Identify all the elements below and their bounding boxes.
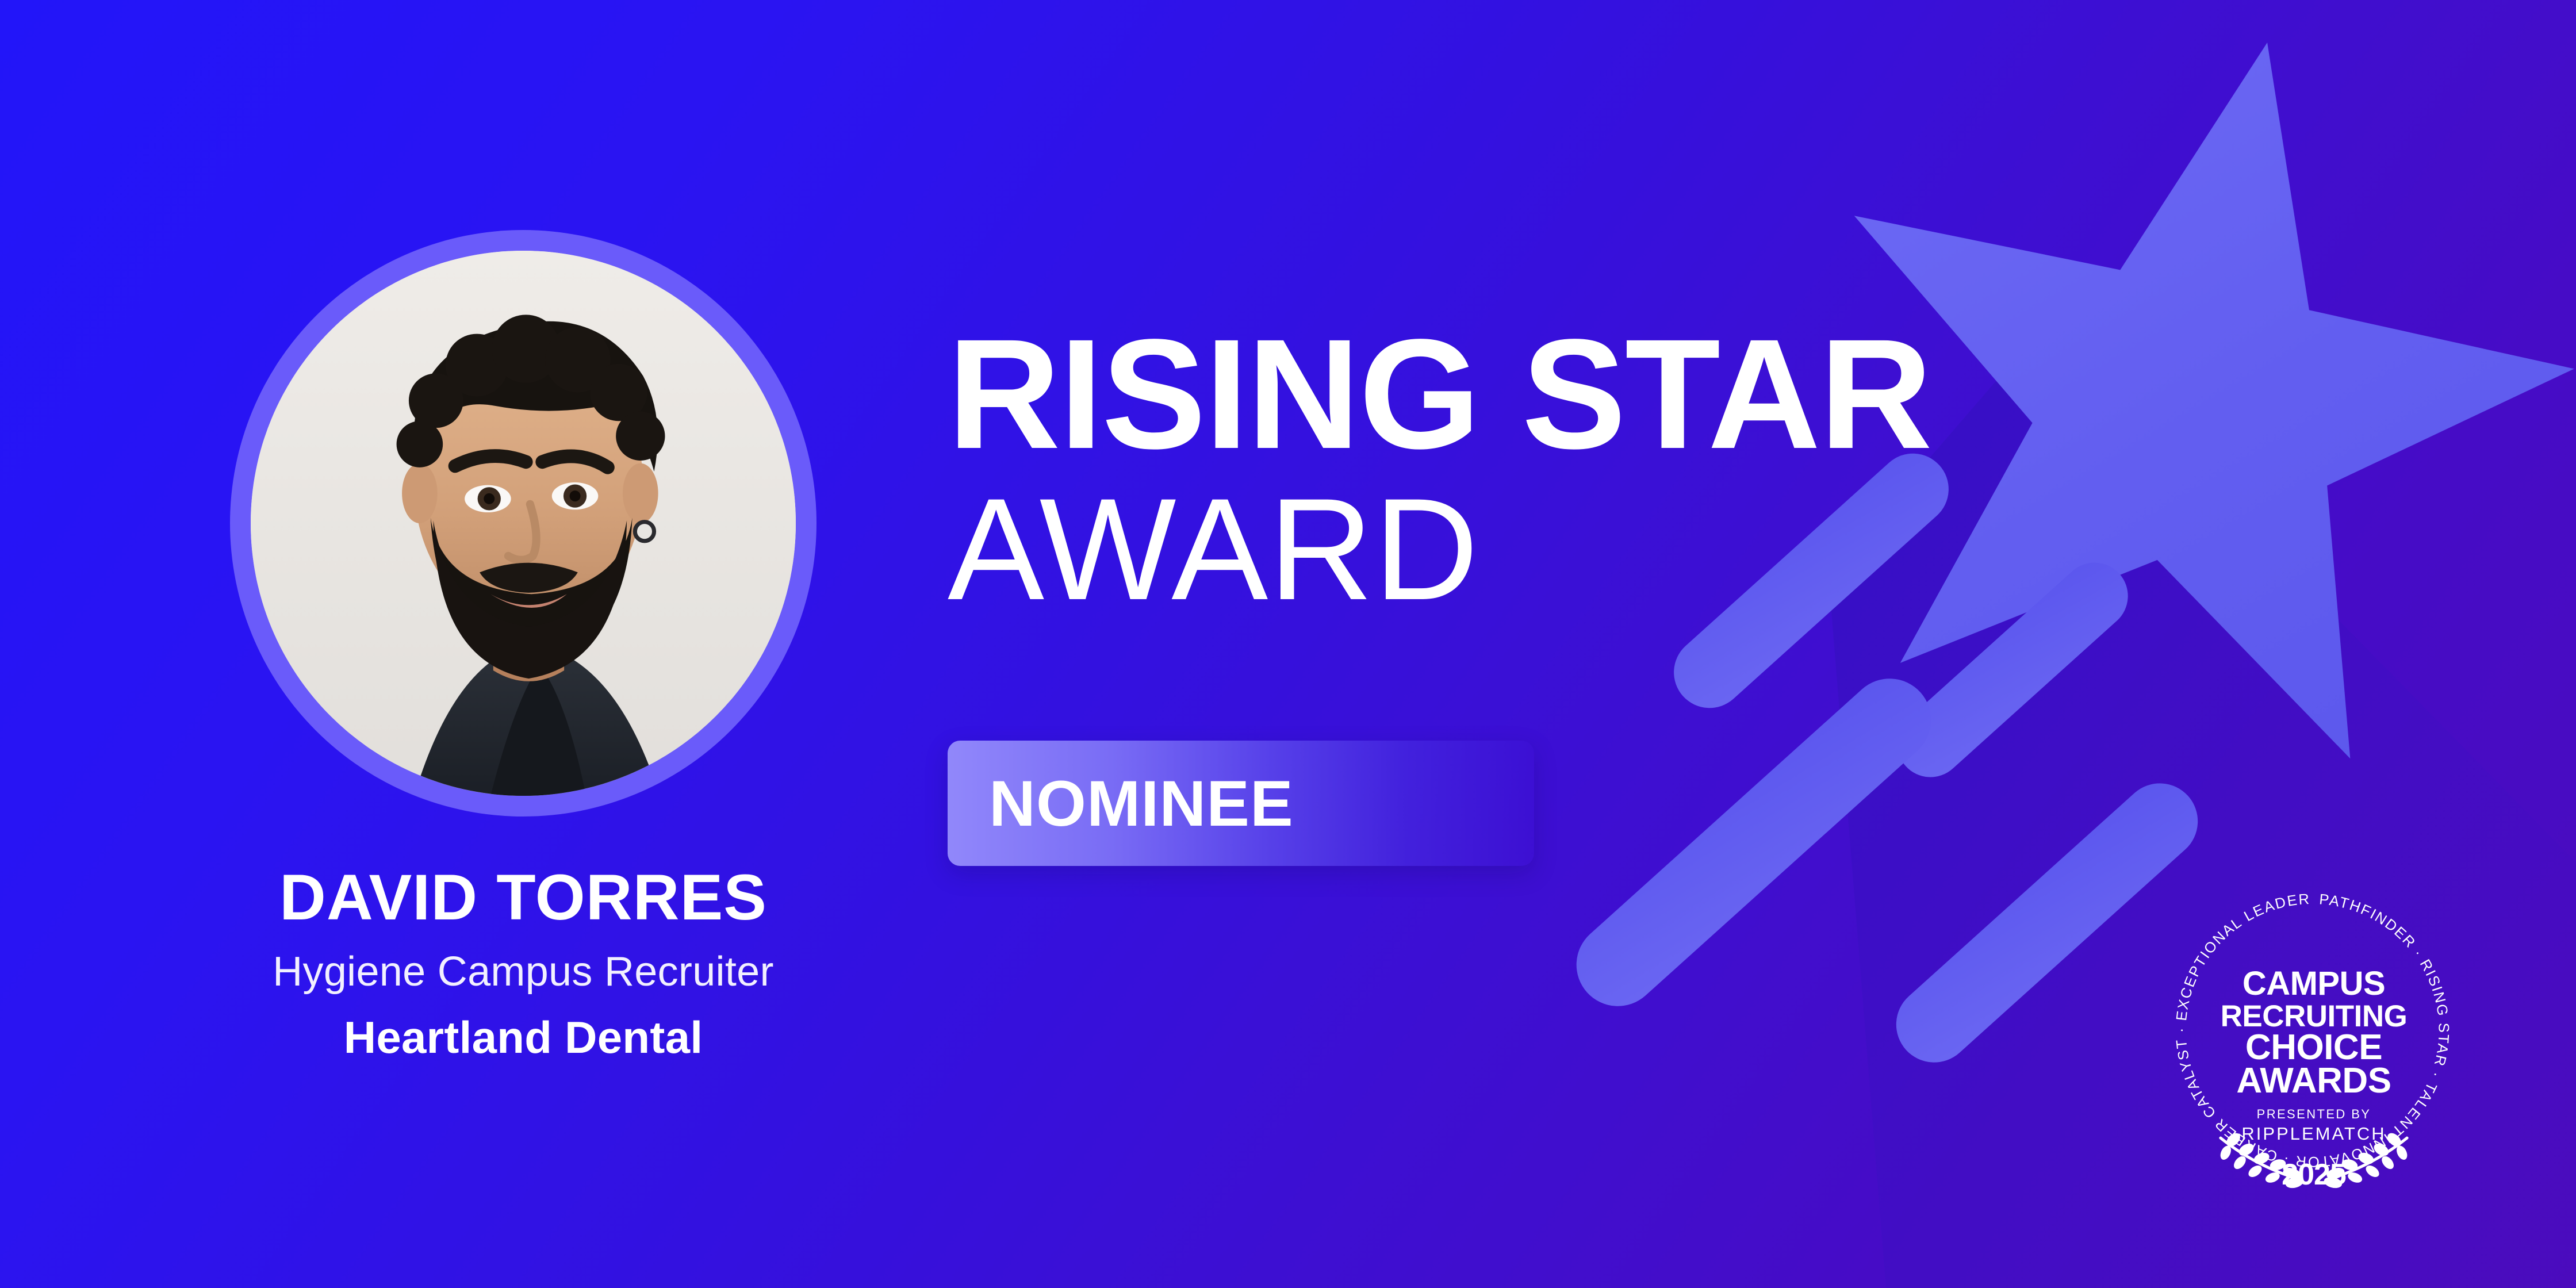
seal-presented-by-label: PRESENTED BY [2257,1107,2371,1121]
honoree-title: Hygiene Campus Recruiter [0,949,1046,995]
avatar [230,230,816,816]
honoree-block: DAVID TORRES Hygiene Campus Recruiter He… [0,230,1046,1063]
award-seal: PATHFINDER · RISING STAR · TALENT INNOVA… [2152,869,2474,1191]
award-graphic-canvas: DAVID TORRES Hygiene Campus Recruiter He… [0,0,2576,1288]
seal-title-line-4: AWARDS [2236,1061,2391,1101]
status-badge: NOMINEE [948,741,1534,866]
honoree-name: DAVID TORRES [0,864,1046,932]
seal-title-line-1: CAMPUS [2242,965,2385,1002]
award-title-secondary: AWARD [948,477,2270,622]
seal-year: 2025 [2282,1158,2346,1191]
seal-title: CAMPUS RECRUITING CHOICE AWARDS [2221,965,2408,1101]
honoree-company: Heartland Dental [0,1013,1046,1063]
seal-presenter: RIPPLEMATCH [2241,1124,2386,1144]
award-title-primary: RISING STAR [948,322,2270,466]
status-badge-label: NOMINEE [989,766,1294,841]
award-headline: RISING STAR AWARD [948,322,2270,622]
headshot-photo [251,251,796,796]
